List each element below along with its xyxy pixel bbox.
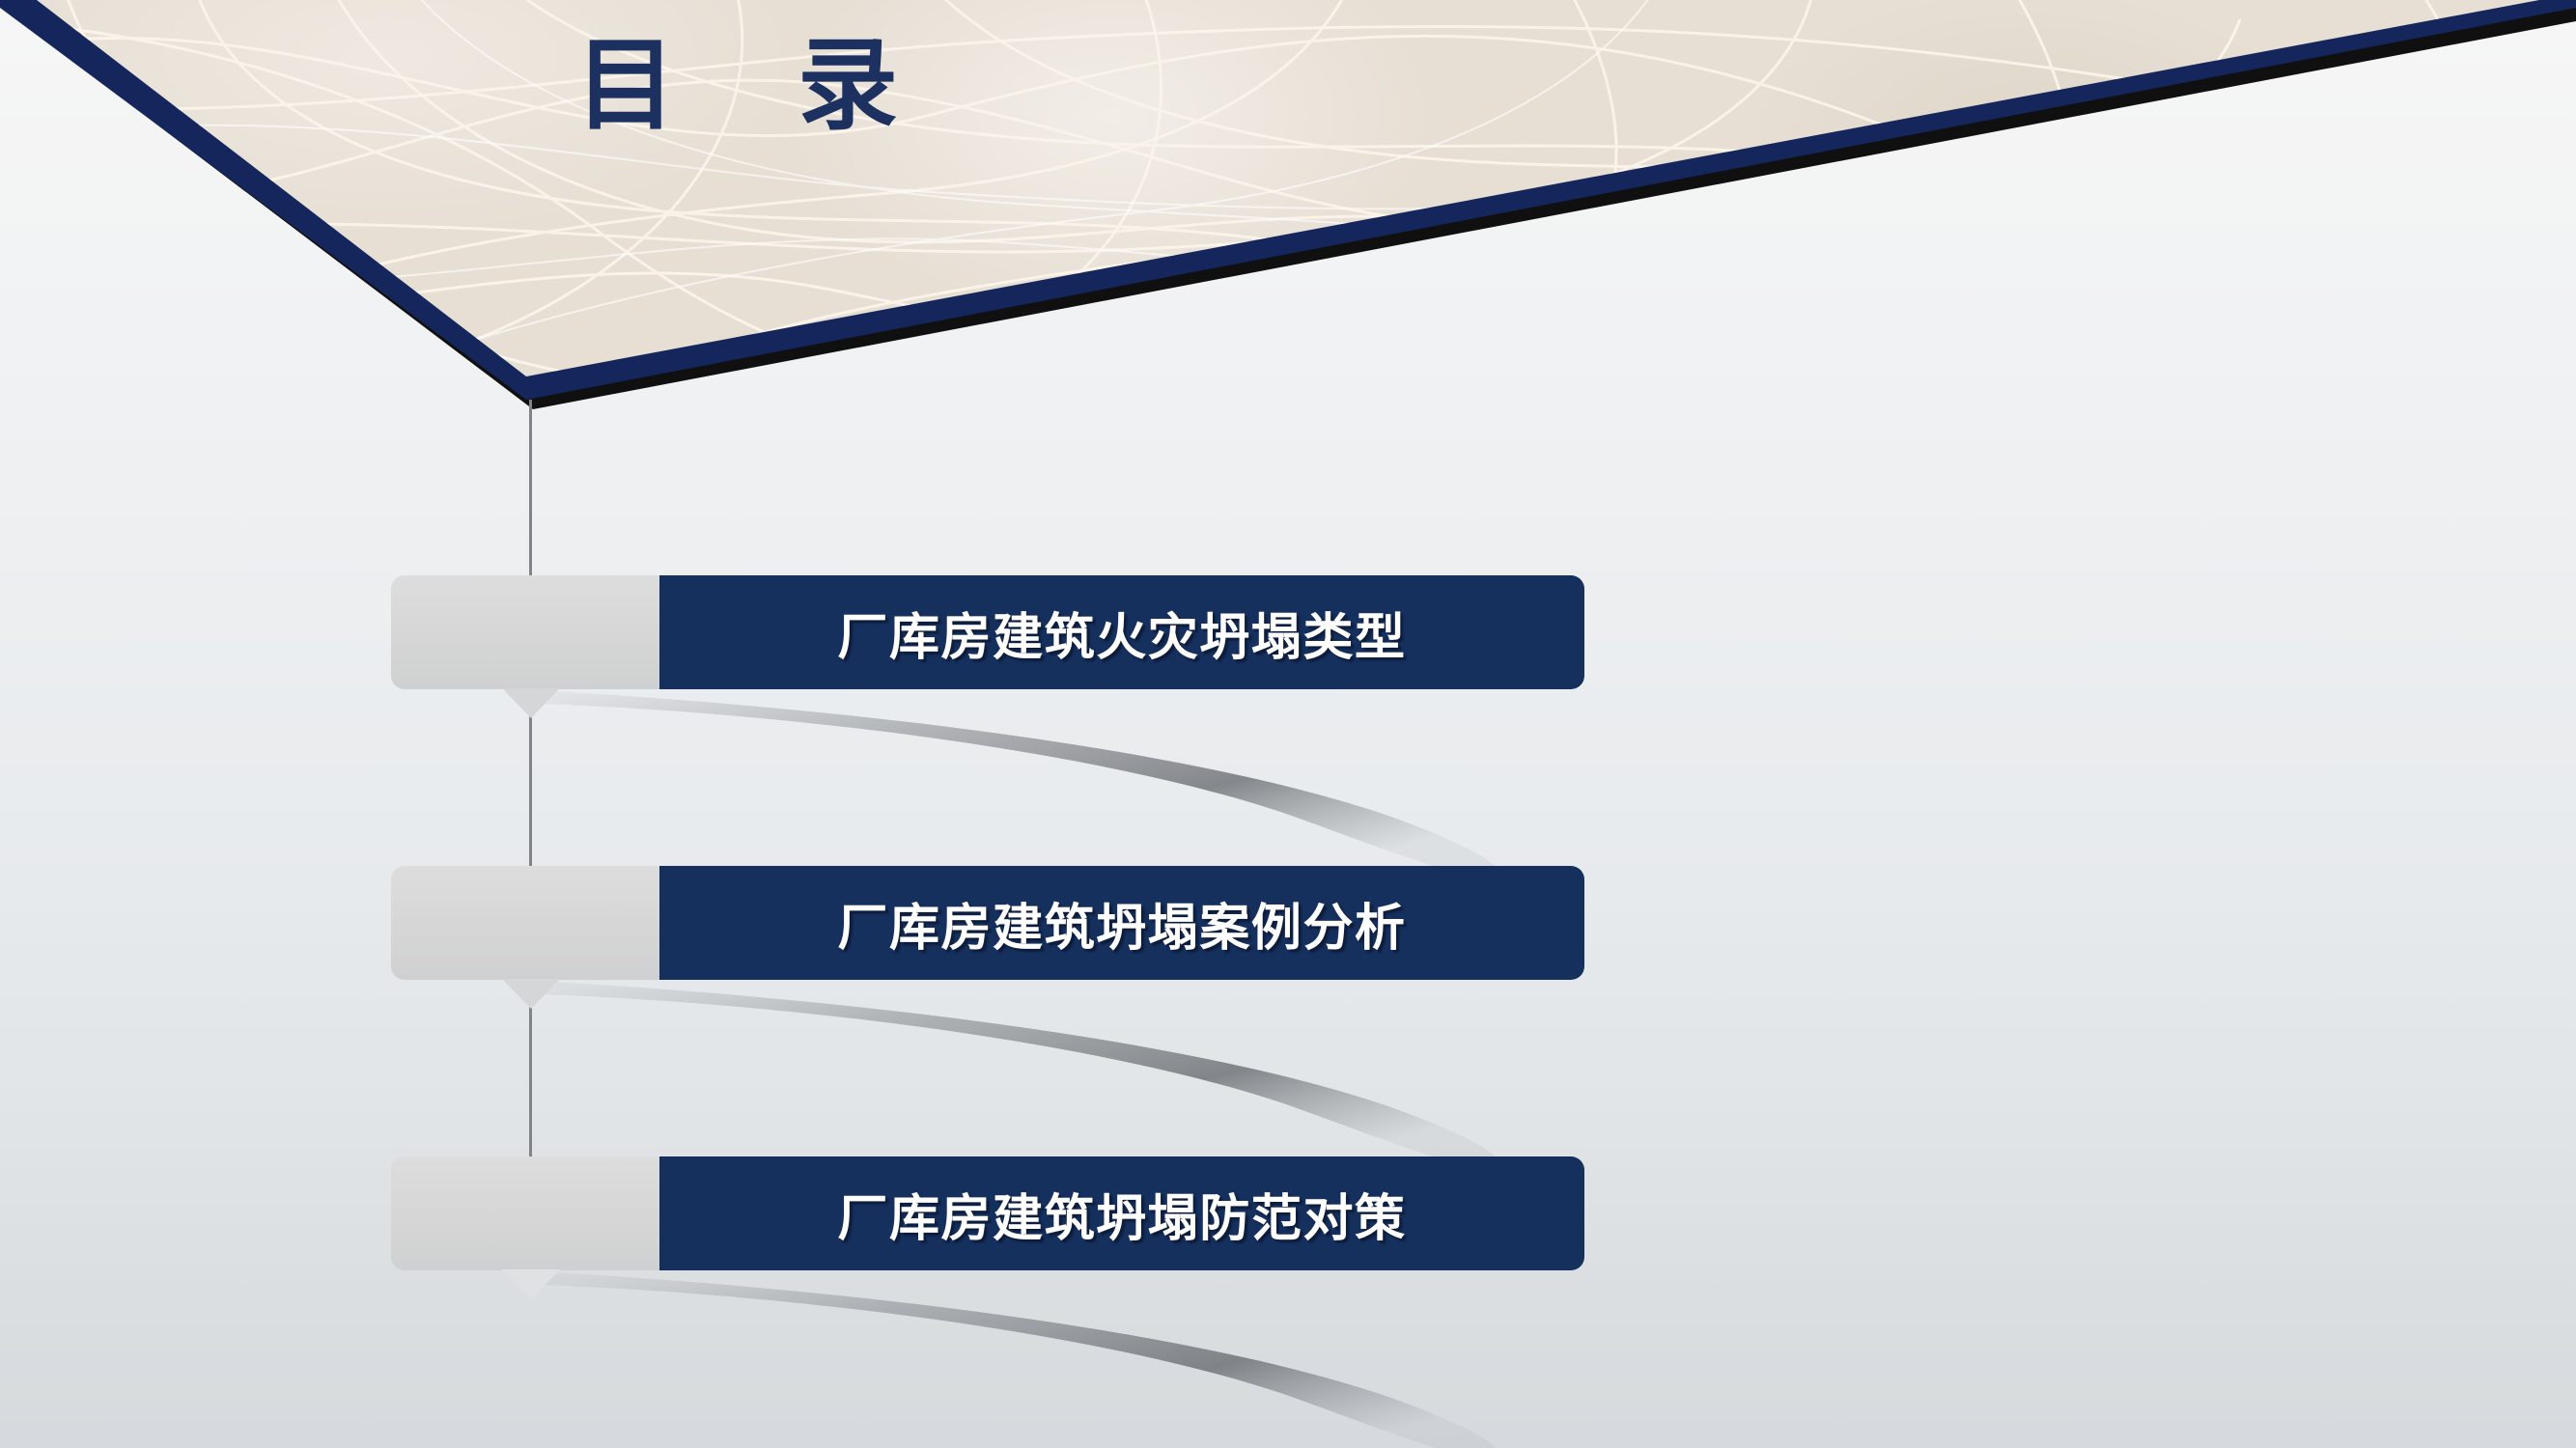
chapter-chip: [391, 866, 659, 980]
chapter-title-label: 厂库房建筑火灾坍塌类型: [659, 575, 1584, 689]
header-banner: 目 录: [0, 0, 2576, 425]
chip-notch-triangle: [502, 1269, 560, 1299]
bar-drop-shadow: [517, 1261, 1608, 1448]
chapter-title-label: 厂库房建筑坍塌案例分析: [659, 866, 1584, 980]
banner-navy-border: [0, 0, 2576, 425]
page-title: 目 录: [575, 27, 900, 146]
bar-drop-shadow: [517, 970, 1608, 1173]
chip-notch-triangle: [502, 688, 560, 718]
chapter-chip: [391, 575, 659, 689]
chapter-title-label: 厂库房建筑坍塌防范对策: [659, 1156, 1584, 1270]
bar-drop-shadow: [517, 680, 1608, 882]
chip-notch-triangle: [502, 979, 560, 1009]
slide-canvas: 目 录 第一章 厂库房建筑火灾坍塌类型: [0, 0, 2576, 1448]
chapter-chip: [391, 1156, 659, 1270]
banner-drop-shadow: [0, 0, 2576, 425]
banner-paper-texture: [0, 0, 2576, 425]
